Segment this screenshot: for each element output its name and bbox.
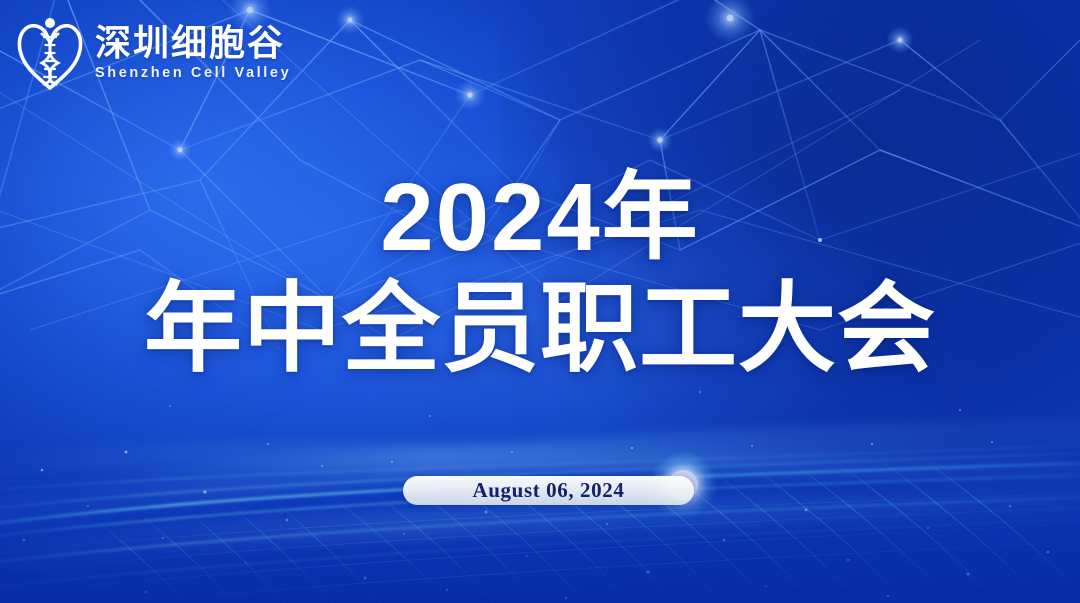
presentation-slide: 深圳细胞谷 Shenzhen Cell Valley 2024年 年中全员职工大…: [0, 0, 1080, 603]
company-logo-text: 深圳细胞谷 Shenzhen Cell Valley: [95, 25, 291, 81]
title-line-event: 年中全员职工大会: [0, 277, 1080, 380]
date-badge-label: August 06, 2024: [473, 478, 625, 503]
background-bottom-shade: [0, 433, 1080, 603]
title-line-year: 2024年: [0, 168, 1080, 269]
dna-helix-heart-logo-icon: [14, 14, 86, 92]
slide-title: 2024年 年中全员职工大会: [0, 168, 1080, 380]
company-logo: 深圳细胞谷 Shenzhen Cell Valley: [14, 14, 291, 92]
company-name-en: Shenzhen Cell Valley: [95, 66, 291, 81]
date-badge: August 06, 2024: [403, 476, 694, 505]
company-name-cn: 深圳细胞谷: [95, 25, 291, 61]
